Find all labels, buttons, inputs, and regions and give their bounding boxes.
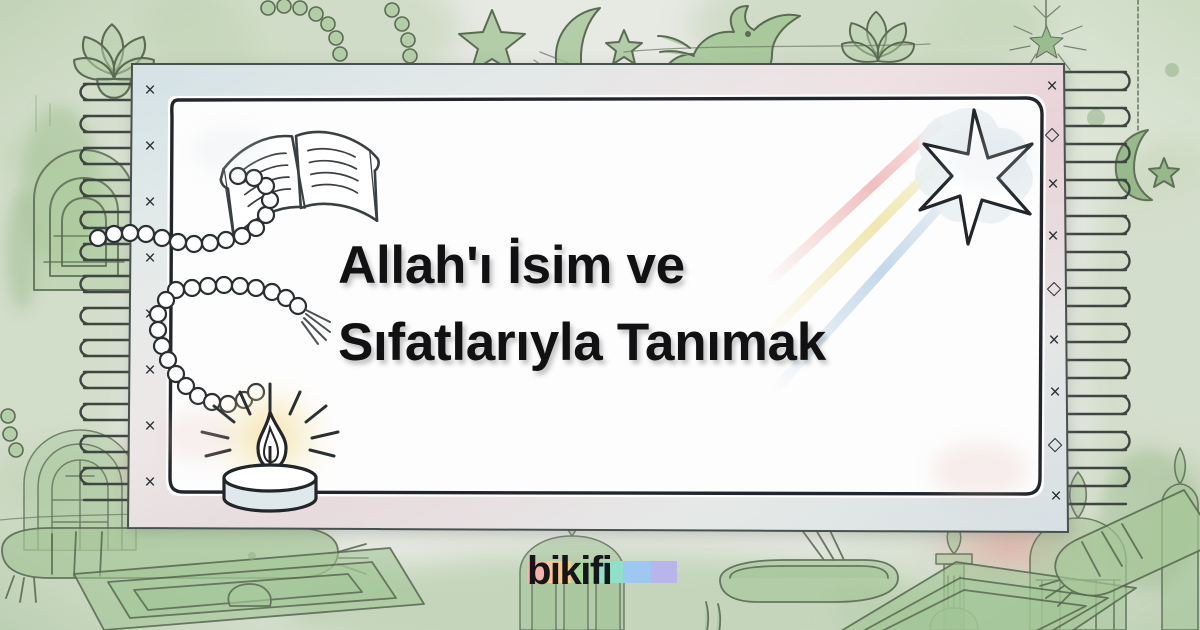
svg-text:×: × (144, 192, 155, 213)
svg-text:×: × (144, 360, 155, 381)
bikifi-logo[interactable]: bikifi (527, 549, 677, 593)
svg-text:×: × (1046, 76, 1057, 97)
card-fringe-left (81, 84, 131, 500)
card-layer: × × × × × × × × × ◇ × × ◇ × × ◇ × (0, 0, 1200, 630)
svg-text:◇: ◇ (1047, 278, 1062, 299)
svg-text:×: × (144, 80, 155, 101)
logo-wordmark: bikifi (527, 549, 677, 593)
svg-text:×: × (144, 416, 155, 437)
card-fringe-right (1060, 72, 1130, 504)
svg-text:×: × (144, 472, 155, 493)
svg-text:×: × (1048, 330, 1059, 351)
svg-text:×: × (1050, 486, 1061, 507)
svg-text:◇: ◇ (1048, 434, 1063, 455)
svg-text:×: × (1049, 382, 1060, 403)
svg-text:×: × (144, 136, 155, 157)
svg-text:×: × (144, 248, 155, 269)
og-banner: × × × × × × × × × ◇ × × ◇ × × ◇ × (0, 0, 1200, 630)
svg-text:×: × (1047, 174, 1058, 195)
svg-text:×: × (1047, 226, 1058, 247)
svg-text:◇: ◇ (1045, 124, 1060, 145)
